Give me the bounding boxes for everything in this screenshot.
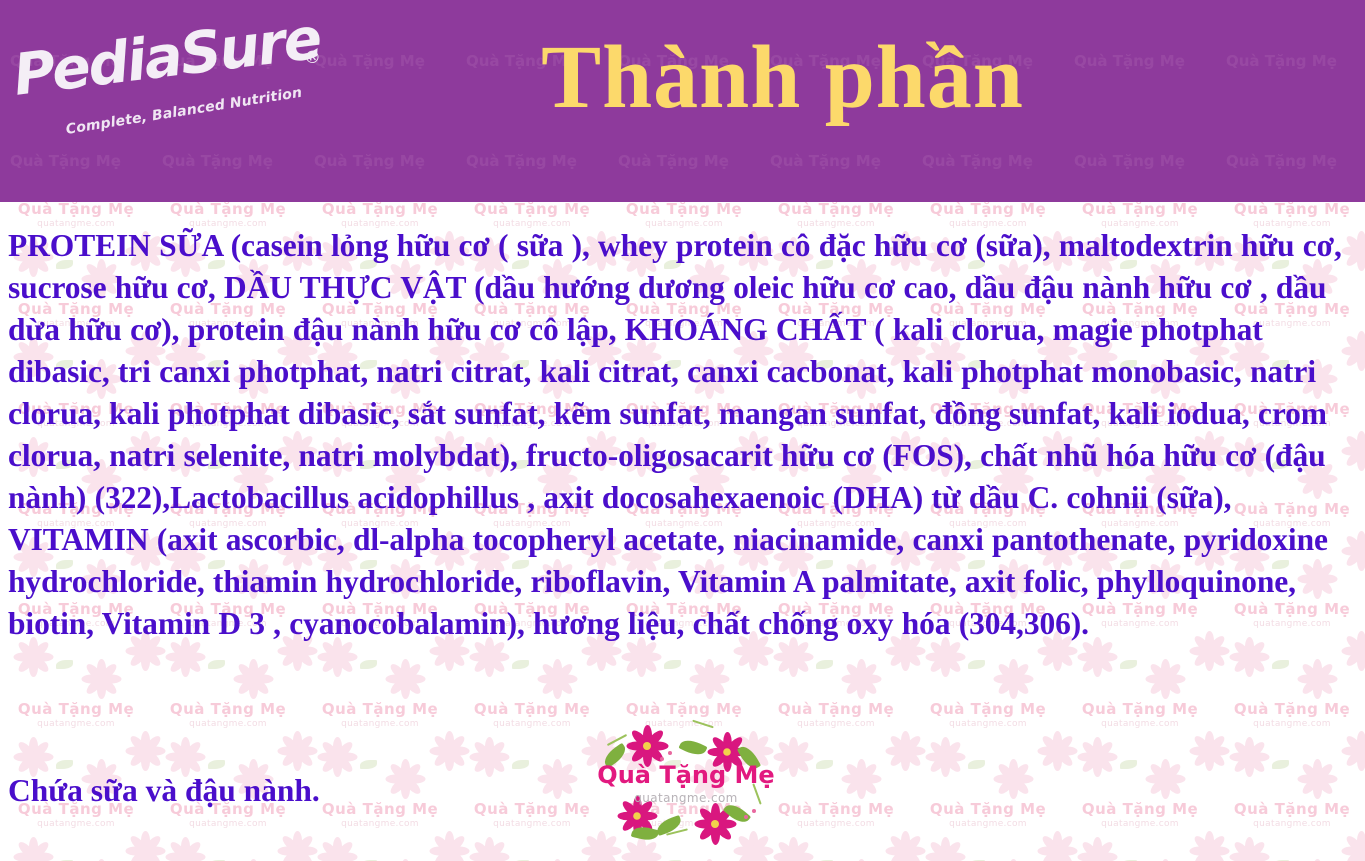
flower-center xyxy=(711,820,719,828)
quatangme-logo: Quà Tặng Mẹ quatangme.com xyxy=(596,715,776,855)
header-watermark-text: Quà Tặng Mẹ xyxy=(1226,152,1337,170)
ingredients-page: Quà Tặng Mẹquatangme.comQuà Tặng Mẹquata… xyxy=(0,0,1365,861)
flower-center xyxy=(633,812,641,820)
bud-dot-icon xyxy=(744,815,748,819)
page-title: Thành phần xyxy=(0,22,1365,135)
bud-dot-icon xyxy=(668,751,672,755)
page-header: Quà Tặng MẹQuà Tặng MẹQuà Tặng MẹQuà Tặn… xyxy=(0,0,1365,202)
leaf-icon xyxy=(678,736,707,759)
flower-center xyxy=(643,742,651,750)
header-watermark-text: Quà Tặng Mẹ xyxy=(466,152,577,170)
header-watermark-text: Quà Tặng Mẹ xyxy=(1074,152,1185,170)
logo-name: Quà Tặng Mẹ xyxy=(596,763,776,787)
logo-url: quatangme.com xyxy=(596,791,776,805)
header-watermark-text: Quà Tặng Mẹ xyxy=(770,152,881,170)
header-watermark-text: Quà Tặng Mẹ xyxy=(922,152,1033,170)
flower-center xyxy=(723,748,731,756)
sprig-icon xyxy=(692,720,714,729)
header-watermark-text: Quà Tặng Mẹ xyxy=(618,152,729,170)
allergen-note: Chứa sữa và đậu nành. xyxy=(8,770,320,812)
ingredients-text: PROTEIN SỮA (casein lỏng hữu cơ ( sữa ),… xyxy=(8,225,1360,645)
bud-dot-icon xyxy=(752,809,756,813)
